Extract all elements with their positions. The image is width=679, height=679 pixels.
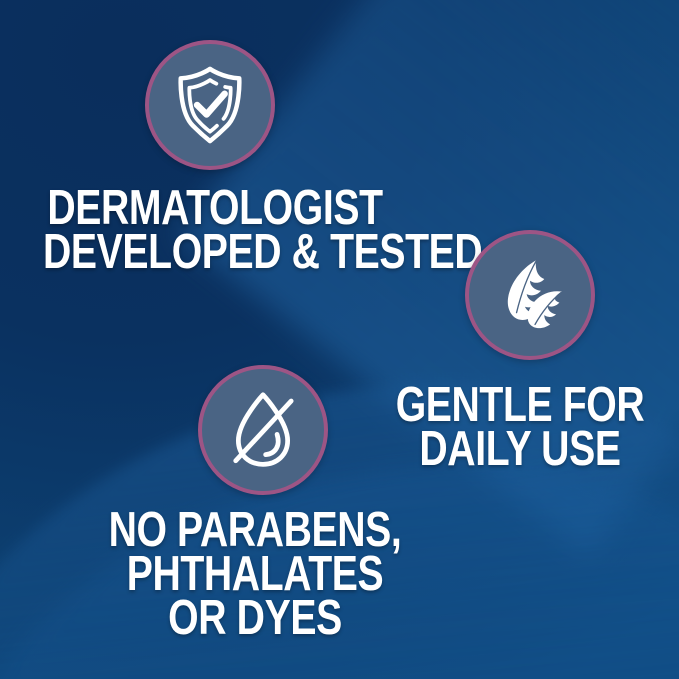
feathers-icon (488, 253, 572, 337)
claim-line: Gentle For (392, 383, 648, 427)
badge-no-parabens (198, 365, 328, 495)
claim-line: Or Dyes (95, 596, 415, 640)
claim-line: Phthalates (95, 552, 415, 596)
claim-text-dermatologist: Dermatologist Developed & Tested (43, 186, 387, 274)
claim-line: Daily Use (392, 427, 648, 471)
claim-text-no-parabens: No Parabens, Phthalates Or Dyes (95, 508, 415, 640)
badge-dermatologist (145, 40, 275, 170)
badge-gentle (465, 230, 595, 360)
claim-text-gentle: Gentle For Daily Use (392, 383, 648, 471)
claim-line: Dermatologist (43, 186, 387, 230)
claim-line: No Parabens, (95, 508, 415, 552)
benefits-poster: Dermatologist Developed & Tested Gentle … (0, 0, 679, 679)
claim-line: Developed & Tested (43, 230, 387, 274)
shield-check-icon (167, 62, 253, 148)
no-leaf-icon (219, 386, 307, 474)
